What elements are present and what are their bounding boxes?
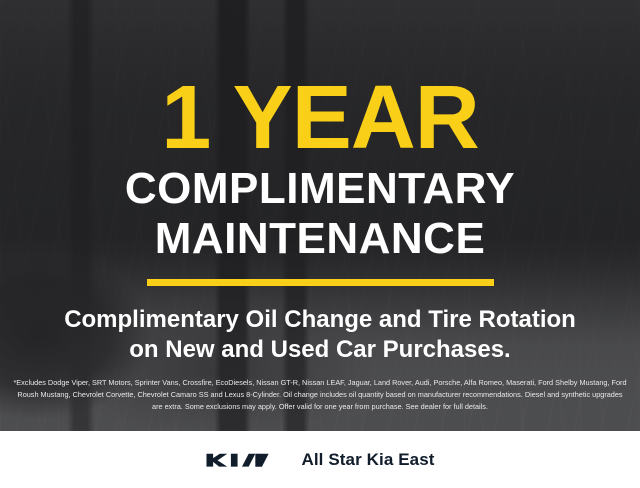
disclaimer-text: *Excludes Dodge Viper, SRT Motors, Sprin… bbox=[12, 377, 628, 412]
kia-logo-icon bbox=[205, 449, 279, 471]
promo-banner: 1 YEAR COMPLIMENTARY MAINTENANCE Complim… bbox=[0, 0, 640, 488]
hero-section: 1 YEAR COMPLIMENTARY MAINTENANCE Complim… bbox=[0, 0, 640, 431]
headline-maintenance: MAINTENANCE bbox=[155, 217, 486, 261]
dealer-name: All Star Kia East bbox=[301, 450, 434, 470]
headline-complimentary: COMPLIMENTARY bbox=[125, 167, 515, 211]
offer-line-1: Complimentary Oil Change and Tire Rotati… bbox=[64, 305, 576, 336]
yellow-divider-bar bbox=[147, 279, 494, 286]
offer-line-2: on New and Used Car Purchases. bbox=[129, 335, 510, 366]
headline-year: 1 YEAR bbox=[161, 76, 478, 161]
dealer-footer: All Star Kia East bbox=[0, 431, 640, 488]
hero-content: 1 YEAR COMPLIMENTARY MAINTENANCE Complim… bbox=[0, 0, 640, 431]
